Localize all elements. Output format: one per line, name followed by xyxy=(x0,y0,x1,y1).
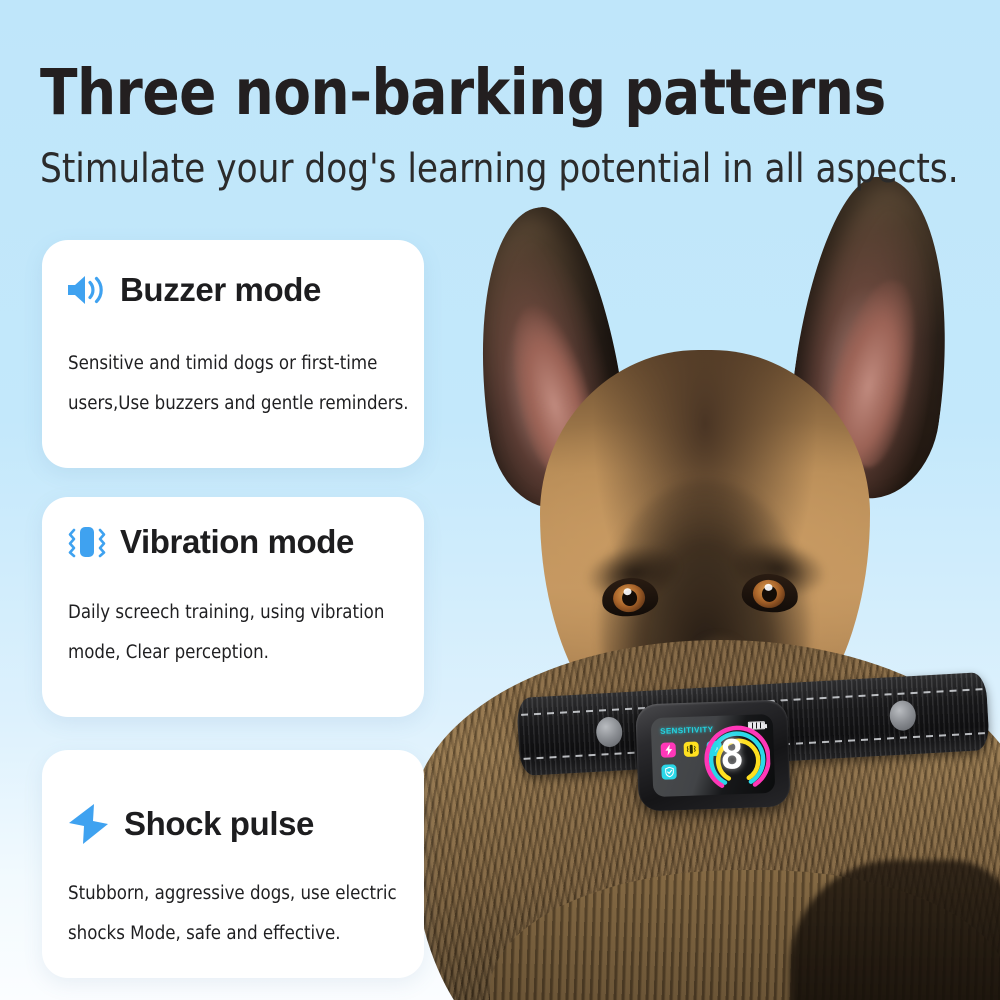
card-body: Sensitive and timid dogs or first-time u… xyxy=(68,344,434,424)
card-header: Vibration mode xyxy=(66,522,354,562)
vibration-icon xyxy=(66,522,108,562)
card-body-line: mode, Clear perception. xyxy=(68,633,434,673)
marketing-banner: SENSITIVITY xyxy=(0,0,1000,1000)
page-subtitle: Stimulate your dog's learning potential … xyxy=(40,145,938,193)
card-body-line: Sensitive and timid dogs or first-time xyxy=(68,344,434,384)
german-shepherd-photo xyxy=(430,170,1000,1000)
feature-card-shock[interactable]: Shock pulse Stubborn, aggressive dogs, u… xyxy=(42,750,424,978)
card-title: Shock pulse xyxy=(124,806,314,842)
card-title: Vibration mode xyxy=(120,524,354,560)
card-body-line: users,Use buzzers and gentle reminders. xyxy=(68,384,434,424)
card-body: Stubborn, aggressive dogs, use electric … xyxy=(68,874,434,954)
shield-check-icon xyxy=(664,766,674,777)
speaker-sound-icon xyxy=(66,273,108,307)
feature-card-vibration[interactable]: Vibration mode Daily screech training, u… xyxy=(42,497,424,717)
card-title: Buzzer mode xyxy=(120,272,321,308)
feature-card-buzzer[interactable]: Buzzer mode Sensitive and timid dogs or … xyxy=(42,240,424,468)
card-body-line: Daily screech training, using vibration xyxy=(68,593,434,633)
vibration-mode-button[interactable] xyxy=(684,741,700,757)
lightning-bolt-icon xyxy=(66,802,112,846)
card-header: Buzzer mode xyxy=(66,272,321,308)
card-body: Daily screech training, using vibration … xyxy=(68,593,434,673)
bark-collar-device[interactable]: SENSITIVITY xyxy=(635,699,791,811)
shock-mode-button[interactable] xyxy=(661,742,677,758)
dog-left-eye xyxy=(600,576,659,619)
vibrate-glyph-icon xyxy=(687,744,696,755)
sensitivity-level-digit: 8 xyxy=(719,735,744,776)
card-body-line: shocks Mode, safe and effective. xyxy=(68,914,434,954)
bolt-glyph-icon xyxy=(664,744,672,755)
safe-shield-button[interactable] xyxy=(661,764,677,780)
device-screen: SENSITIVITY xyxy=(651,714,776,797)
card-header: Shock pulse xyxy=(66,802,314,846)
card-body-line: Stubborn, aggressive dogs, use electric xyxy=(68,874,434,914)
page-title: Three non-barking patterns xyxy=(40,58,932,128)
dog-right-eye xyxy=(740,572,799,615)
